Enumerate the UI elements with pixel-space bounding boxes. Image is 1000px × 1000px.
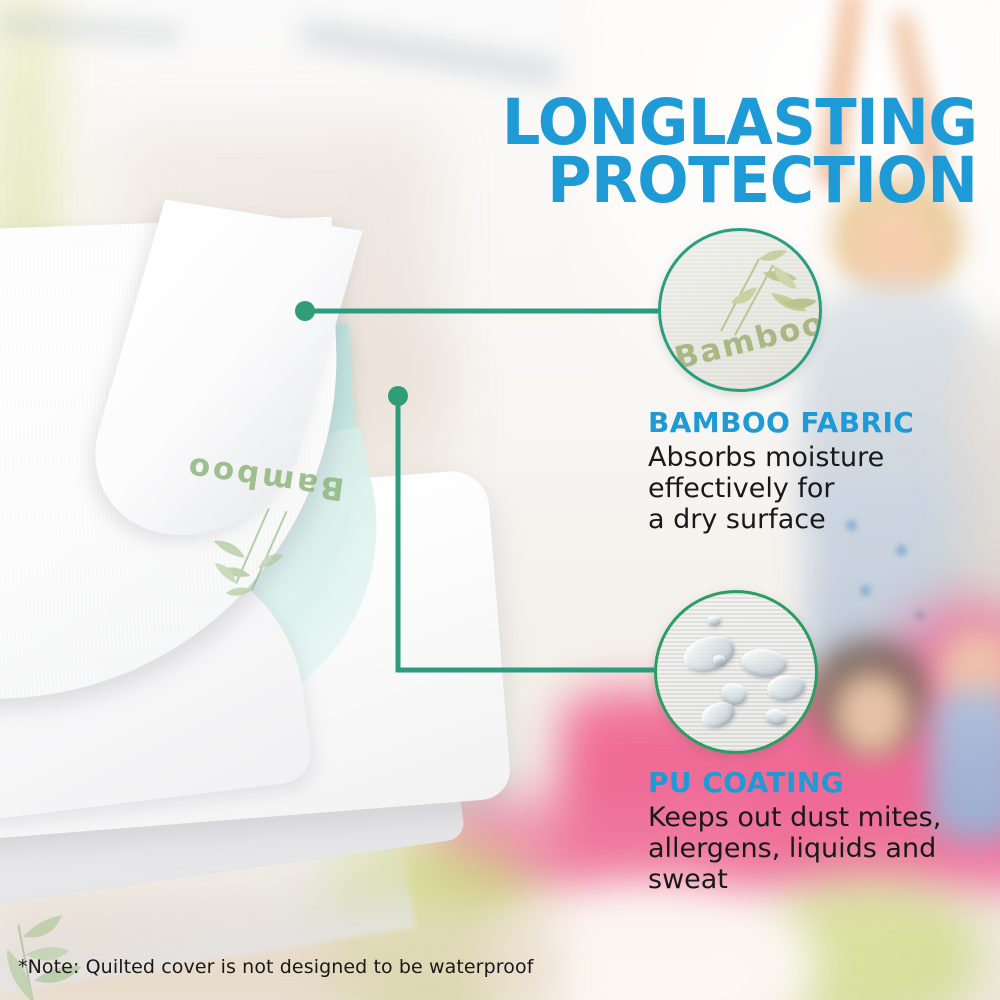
feature-block-pu-coating: PU COATING Keeps out dust mites, allerge… bbox=[648, 766, 988, 895]
feature-body-line: a dry surface bbox=[648, 504, 826, 535]
leader-dot-bamboo bbox=[295, 301, 315, 321]
feature-body-pu-coating: Keeps out dust mites, allergens, liquids… bbox=[648, 803, 988, 895]
feature-block-bamboo-fabric: BAMBOO FABRIC Absorbs moisture effective… bbox=[648, 406, 978, 535]
feature-title-bamboo-fabric: BAMBOO FABRIC bbox=[648, 406, 978, 439]
footnote-disclaimer: *Note: Quilted cover is not designed to … bbox=[18, 956, 534, 978]
leader-line-pu bbox=[398, 396, 654, 670]
infographic-canvas: Bamboo bbox=[0, 0, 1000, 1000]
leader-dot-pu bbox=[388, 386, 408, 406]
feature-body-line: Absorbs moisture bbox=[648, 442, 884, 473]
feature-body-bamboo-fabric: Absorbs moisture effectively for a dry s… bbox=[648, 443, 978, 535]
feature-body-line: allergens, liquids and bbox=[648, 833, 936, 864]
feature-title-pu-coating: PU COATING bbox=[648, 766, 988, 799]
page-headline: LONGLASTING PROTECTION bbox=[502, 94, 978, 210]
feature-body-line: Keeps out dust mites, bbox=[648, 802, 941, 833]
callout-circle-bamboo-fabric: Bamboo bbox=[658, 228, 822, 392]
feature-body-line: effectively for bbox=[648, 473, 835, 504]
feature-body-line: sweat bbox=[648, 864, 728, 895]
headline-line-2: PROTECTION bbox=[502, 152, 978, 210]
callout-circle-pu-coating bbox=[654, 590, 818, 754]
